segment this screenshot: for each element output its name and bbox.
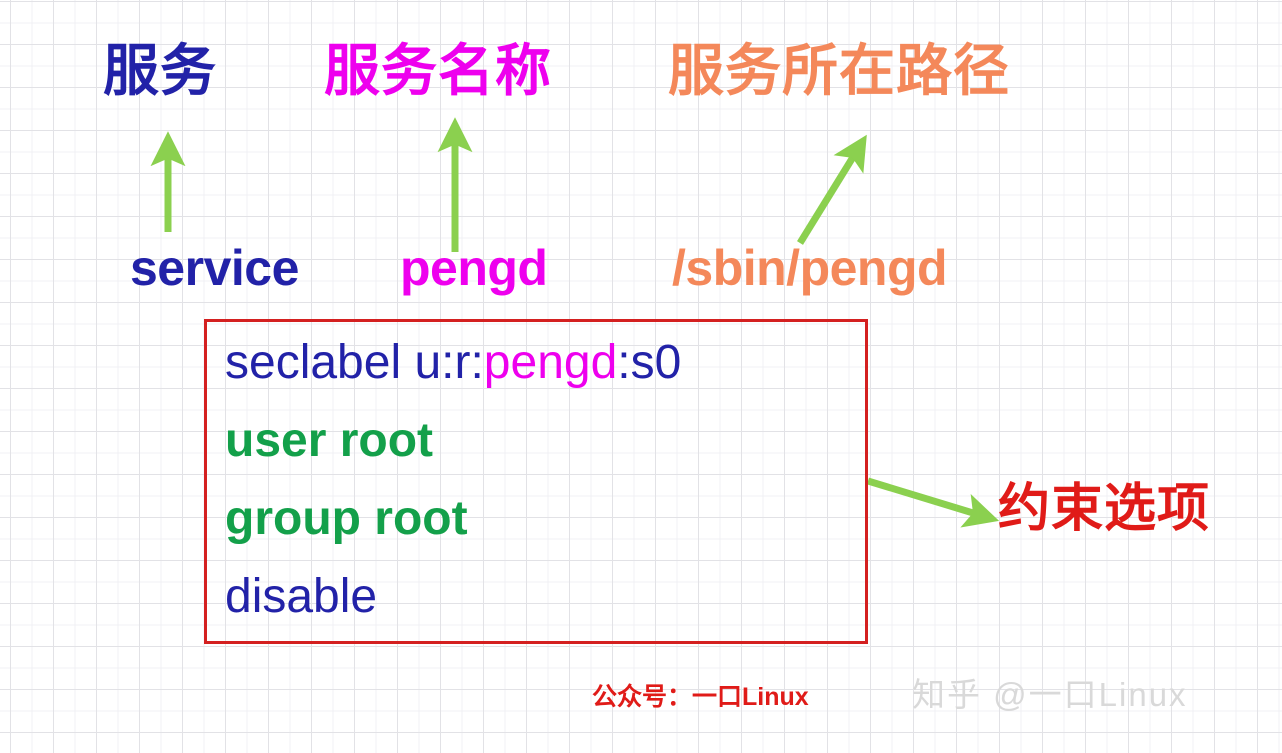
code-line-group: group root xyxy=(225,495,468,543)
code-seg-prefix: group root xyxy=(225,492,468,545)
code-block-box: seclabel u:r:pengd:s0 user root group ro… xyxy=(204,319,868,644)
rc-service-keyword: service xyxy=(130,243,299,293)
heading-service: 服务 xyxy=(103,43,217,99)
diagram-canvas: 服务 服务名称 服务所在路径 service pengd /sbin/pengd… xyxy=(0,0,1282,753)
code-seg-prefix: seclabel u:r: xyxy=(225,336,484,389)
label-constraint-options: 约束选项 xyxy=(998,483,1210,535)
arrow-to-service-path xyxy=(800,149,858,243)
heading-service-name: 服务名称 xyxy=(324,43,552,99)
heading-service-path: 服务所在路径 xyxy=(668,43,1010,99)
code-seg-prefix: disable xyxy=(225,570,377,623)
footer-wechat-credit: 公众号：一口Linux xyxy=(592,685,809,710)
code-line-disable: disable xyxy=(225,573,377,621)
code-line-seclabel: seclabel u:r:pengd:s0 xyxy=(225,339,681,387)
rc-service-path: /sbin/pengd xyxy=(672,243,947,293)
code-seg-highlight: pengd xyxy=(484,336,617,389)
arrow-to-constraint xyxy=(868,481,983,516)
watermark-zhihu: 知乎 @一口Linux xyxy=(912,678,1188,711)
code-seg-suffix: :s0 xyxy=(617,336,681,389)
code-seg-prefix: user root xyxy=(225,414,433,467)
code-line-user: user root xyxy=(225,417,433,465)
rc-service-name: pengd xyxy=(400,243,547,293)
